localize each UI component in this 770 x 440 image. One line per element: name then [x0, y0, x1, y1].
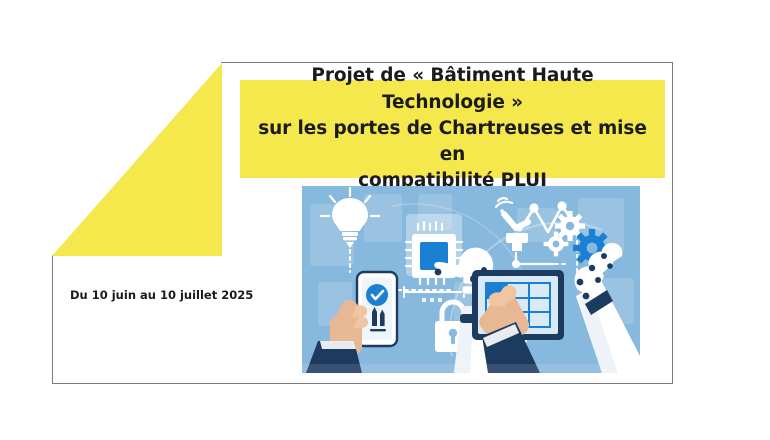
poster-canvas: Projet de « Bâtiment Haute Technologie »…: [0, 0, 770, 440]
frame-border-right: [672, 62, 673, 384]
date-range-label: Du 10 juin au 10 juillet 2025: [70, 288, 253, 302]
technology-illustration: [302, 186, 640, 373]
frame-border-bottom: [52, 383, 673, 384]
frame-border-left: [52, 255, 53, 383]
page-title: Projet de « Bâtiment Haute Technologie »…: [248, 63, 657, 194]
yellow-triangle-decoration: [52, 63, 222, 256]
title-banner: Projet de « Bâtiment Haute Technologie »…: [240, 80, 665, 178]
illustration-svg: [302, 186, 640, 373]
